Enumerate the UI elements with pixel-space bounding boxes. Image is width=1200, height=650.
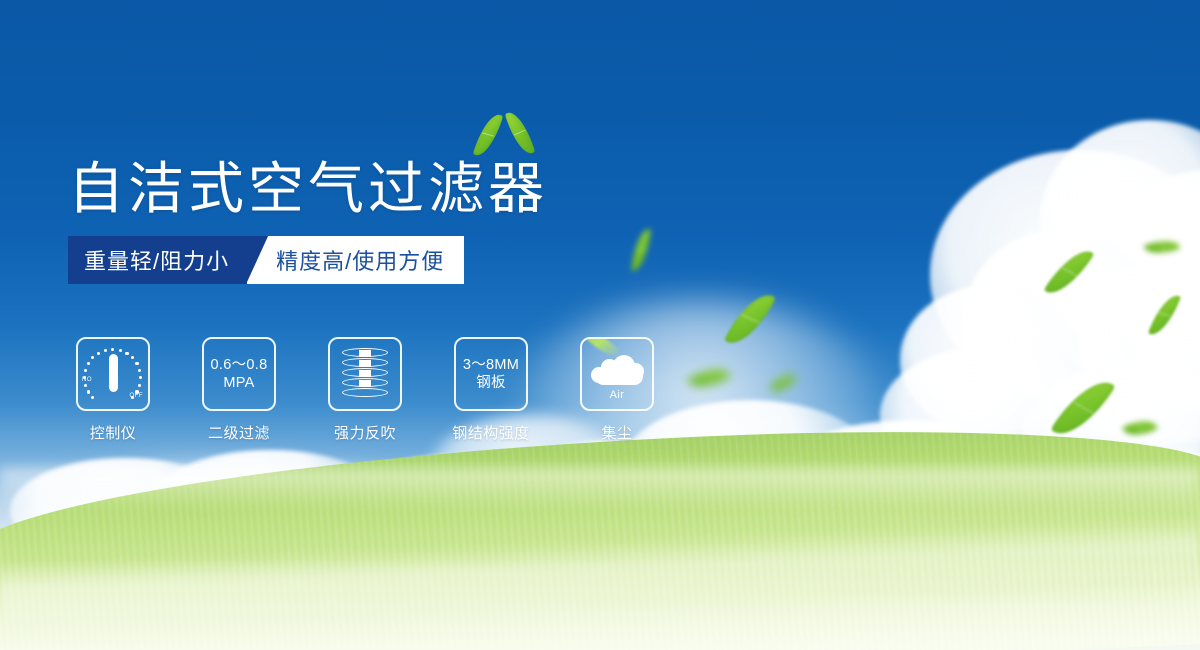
pressure-text-icon-line2: MPA (223, 374, 254, 392)
grass-fade (0, 560, 1200, 650)
feature-item-steel[interactable]: 3～8MM 钢板 钢结构强度 (454, 337, 528, 443)
air-cloud-icon: Air (589, 348, 645, 400)
subtitle-wedge-divider (246, 236, 268, 284)
feature-caption: 集尘 (601, 422, 632, 443)
feature-caption: 二级过滤 (208, 422, 270, 443)
air-label: Air (589, 389, 645, 401)
steel-plate-text-icon-line2: 钢板 (476, 374, 506, 392)
steel-plate-text-icon-line1: 3～8MM (463, 356, 519, 374)
subtitle-left: 重量轻/阻力小 (68, 236, 247, 284)
feature-icon-box (328, 337, 402, 411)
leaf-streak-icon (580, 337, 620, 360)
feature-icon-box: NO OFF (76, 337, 150, 411)
feature-caption: 控制仪 (90, 422, 137, 443)
feature-icon-box: Air (580, 337, 654, 411)
page-title: 自洁式空气过滤器 (68, 144, 548, 225)
dial-needle (109, 354, 118, 392)
feature-caption: 钢结构强度 (452, 422, 530, 443)
feature-list: NO OFF 控制仪 0.6～0.8 MPA 二级过滤 (76, 337, 654, 443)
feature-icon-box: 0.6～0.8 MPA (202, 337, 276, 411)
pressure-text-icon-line1: 0.6～0.8 (211, 356, 268, 374)
dial-label-no: NO (82, 377, 92, 383)
feature-caption: 强力反吹 (334, 422, 396, 443)
feature-item-controller[interactable]: NO OFF 控制仪 (76, 337, 150, 443)
horizon-glow (0, 468, 1200, 510)
subtitle-bar: 重量轻/阻力小 精度高/使用方便 (68, 236, 464, 284)
feature-icon-box: 3～8MM 钢板 (454, 337, 528, 411)
spring-stack-icon (342, 348, 388, 400)
dial-label-off: OFF (130, 393, 144, 399)
feature-item-pressure[interactable]: 0.6～0.8 MPA 二级过滤 (202, 337, 276, 443)
feature-item-backblow[interactable]: 强力反吹 (328, 337, 402, 443)
feature-item-dust[interactable]: Air 集尘 (580, 337, 654, 443)
promo-banner: 自洁式空气过滤器 重量轻/阻力小 精度高/使用方便 (0, 0, 1200, 650)
subtitle-right: 精度高/使用方便 (268, 236, 464, 284)
gauge-dial-icon: NO OFF (83, 344, 143, 404)
